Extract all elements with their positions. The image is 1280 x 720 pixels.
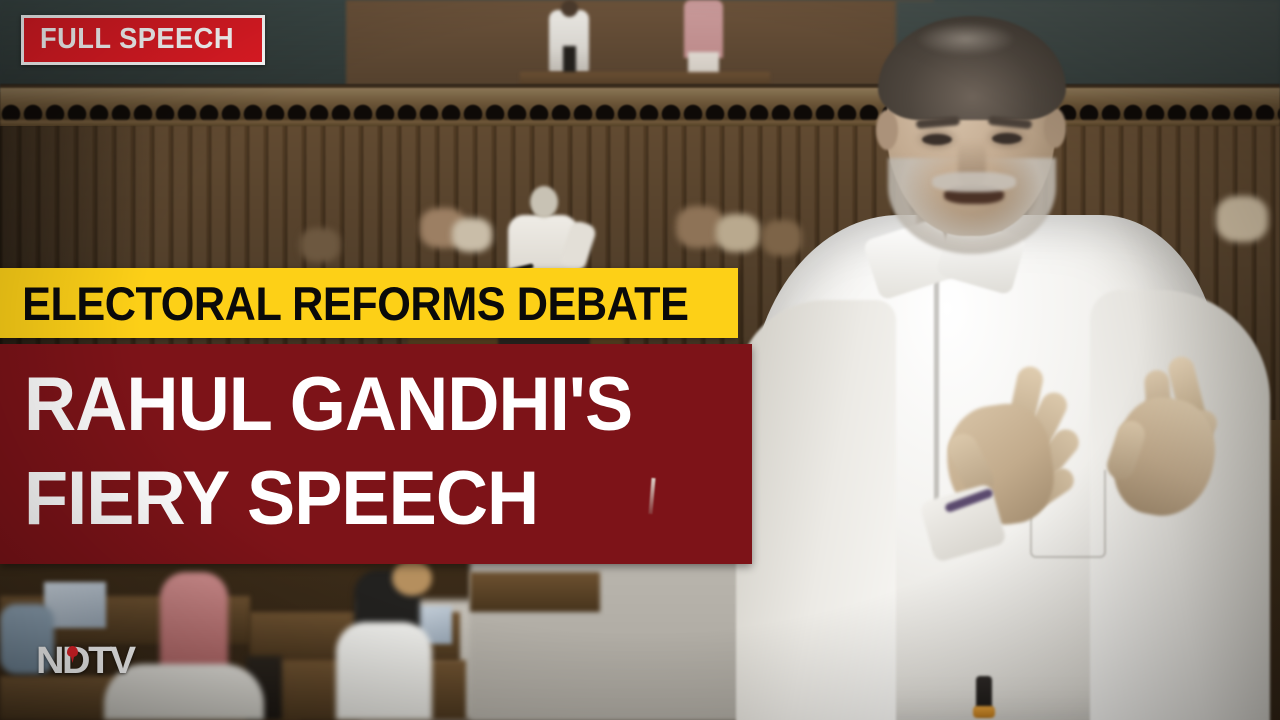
seated-speaker-head xyxy=(530,186,558,218)
foreground-speaker xyxy=(720,0,1280,720)
video-thumbnail-frame: FULL SPEECH ELECTORAL REFORMS DEBATE RAH… xyxy=(0,0,1280,720)
bench-row xyxy=(470,572,600,612)
background-member xyxy=(452,218,492,252)
full-speech-badge-inner: FULL SPEECH xyxy=(24,18,262,62)
full-speech-badge: FULL SPEECH xyxy=(21,15,265,65)
microphone-base xyxy=(973,706,995,718)
headline-line-1: RAHUL GANDHI'S xyxy=(24,362,632,447)
ndtv-logo-text: NDTV xyxy=(36,642,134,680)
headline-line-2: FIERY SPEECH xyxy=(24,452,632,546)
dais-figure-head xyxy=(561,0,578,17)
speaker-ear-left xyxy=(876,110,898,150)
seated-member-head xyxy=(392,560,432,596)
speaker-moustache xyxy=(932,172,1016,192)
full-speech-badge-label: FULL SPEECH xyxy=(40,25,234,54)
kicker-label: ELECTORAL REFORMS DEBATE xyxy=(0,280,689,327)
kicker-band: ELECTORAL REFORMS DEBATE xyxy=(0,268,738,338)
headline-band: RAHUL GANDHI'S FIERY SPEECH xyxy=(0,344,752,564)
seated-member-white xyxy=(336,622,432,720)
speaker-hair-highlight xyxy=(916,22,1016,56)
dais-figure-pink-kurta xyxy=(684,0,723,58)
ndtv-logo: NDTV xyxy=(36,642,130,680)
background-member xyxy=(300,228,340,262)
speaker-left-shoulder xyxy=(736,300,896,720)
ndtv-dot-icon xyxy=(67,646,78,657)
speaker-eye-right xyxy=(992,133,1022,144)
headline-text: RAHUL GANDHI'S FIERY SPEECH xyxy=(24,358,632,546)
speaker-eye-left xyxy=(922,134,952,145)
